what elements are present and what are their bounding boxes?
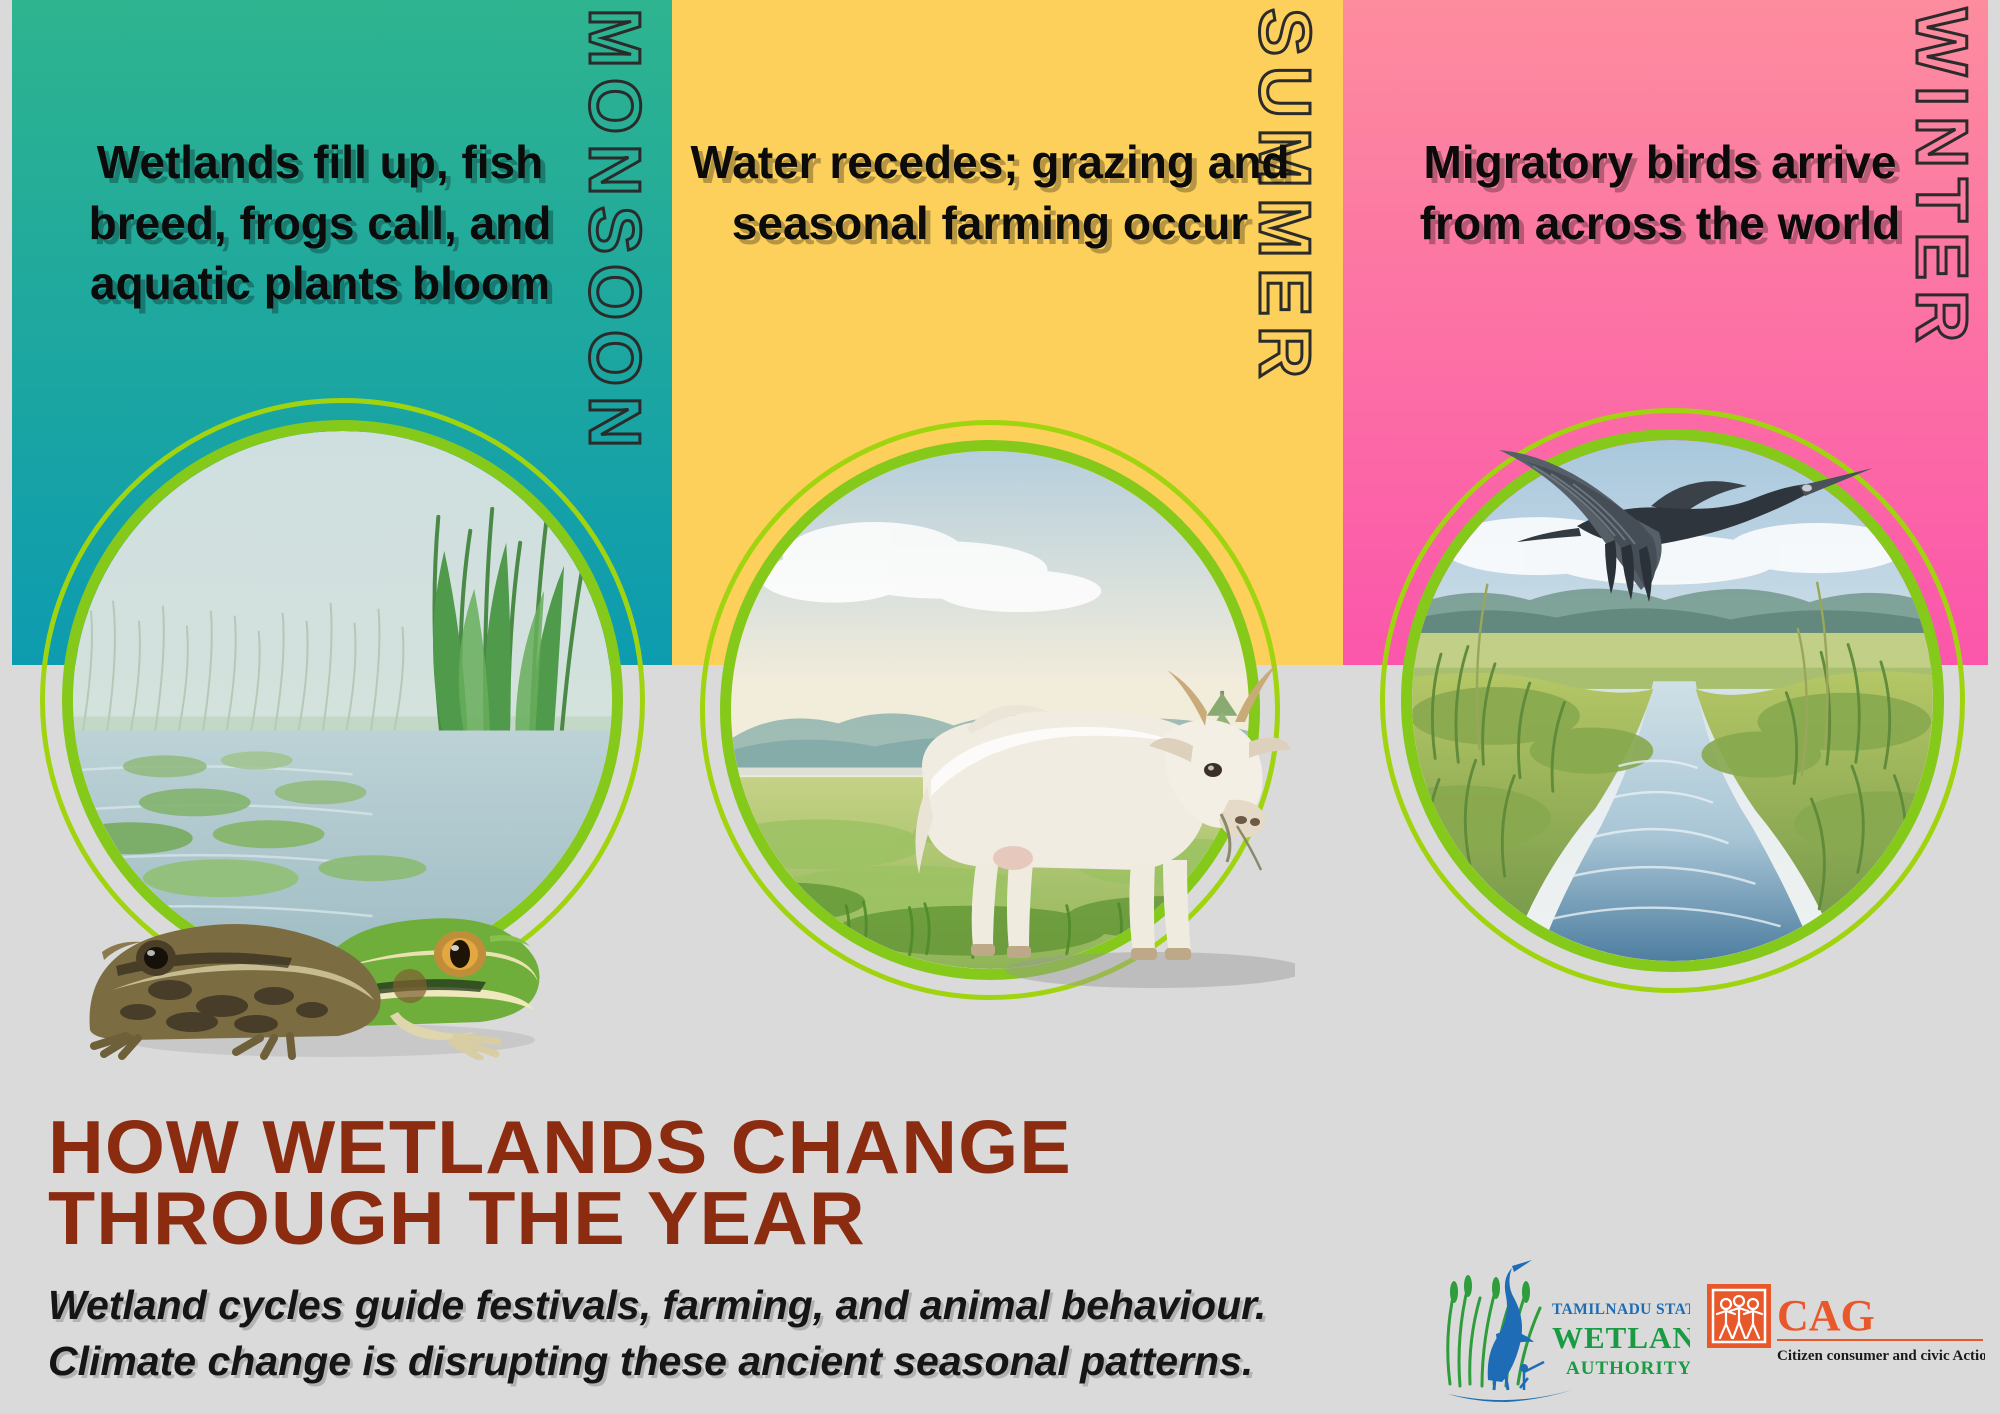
- frog-illustration: [60, 840, 580, 1060]
- page-title: HOW WETLANDS CHANGE THROUGH THE YEAR: [48, 1112, 1490, 1255]
- panel-heading-winter: Migratory birds arrive from across the w…: [1380, 132, 1940, 253]
- infographic-poster: MONSOON SUMMER WINTER Wetlands fill up, …: [0, 0, 2000, 1414]
- svg-text:CAG: CAG: [1777, 1291, 1875, 1340]
- svg-text:TAMILNADU STATE: TAMILNADU STATE: [1552, 1301, 1690, 1318]
- panel-heading-summer: Water recedes; grazing and seasonal farm…: [690, 132, 1290, 253]
- title-block: HOW WETLANDS CHANGE THROUGH THE YEAR Wet…: [48, 1112, 1448, 1390]
- cag-logo: CAG Citizen consumer and civic Action Gr…: [1705, 1280, 1985, 1380]
- svg-text:AUTHORITY: AUTHORITY: [1566, 1358, 1690, 1379]
- svg-text:Citizen consumer and civic Act: Citizen consumer and civic Action Group: [1777, 1348, 1985, 1364]
- page-subtitle: Wetland cycles guide festivals, farming,…: [48, 1277, 1448, 1390]
- cow-illustration: [905, 630, 1295, 990]
- logo-row: TAMILNADU STATE WETLAND AUTHORITY CAG: [1440, 1258, 1985, 1408]
- tamilnadu-state-wetland-authority-logo: TAMILNADU STATE WETLAND AUTHORITY: [1440, 1258, 1690, 1406]
- migratory-bird-illustration: [1455, 440, 1875, 630]
- panel-heading-monsoon: Wetlands fill up, fish breed, frogs call…: [30, 132, 610, 314]
- svg-text:WETLAND: WETLAND: [1552, 1320, 1690, 1355]
